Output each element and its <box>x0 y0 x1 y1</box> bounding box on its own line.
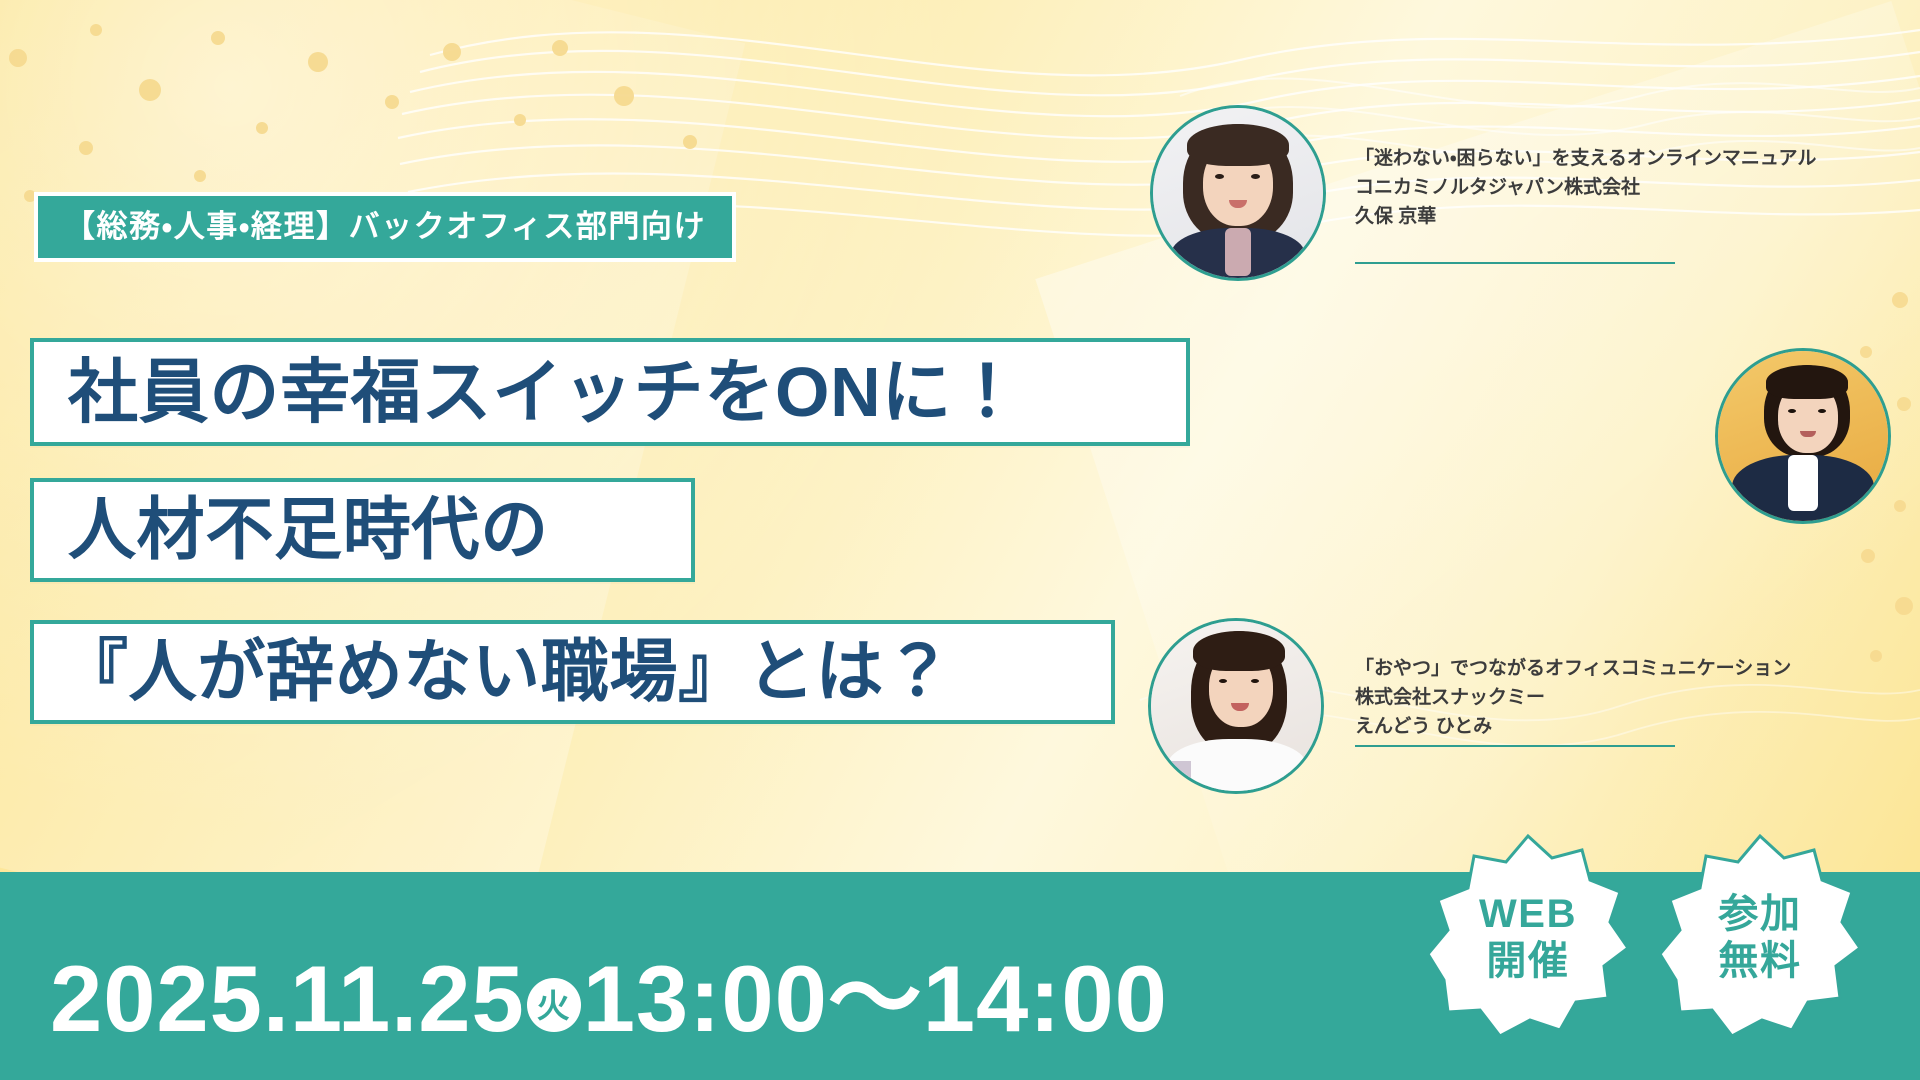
badge-free-line2: 無料 <box>1718 938 1801 985</box>
headline-text-1: 社員の幸福スイッチをONに！ <box>68 357 1023 427</box>
audience-kicker-banner: 【総務・人事・経理】バックオフィス部門向け <box>34 192 736 262</box>
speaker-text-3: 「おやつ」でつながるオフィスコミュニケーション 株式会社スナックミー えんどう … <box>1355 655 1791 742</box>
event-weekday-chip: 火 <box>527 978 581 1032</box>
badge-web-kaisai: WEB 開催 <box>1428 832 1628 1044</box>
speaker-topic-3: 「おやつ」でつながるオフィスコミュニケーション <box>1355 655 1791 684</box>
event-date: 2025.11.25 <box>50 952 525 1046</box>
speaker-photo-1 <box>1150 105 1326 281</box>
event-datetime: 2025.11.25 火 13:00〜14:00 <box>50 952 1168 1046</box>
speaker-text-1: 「迷わない・困らない」を支えるオンラインマニュアル コニカミノルタジャパン株式会… <box>1355 145 1816 232</box>
headline-box-1: 社員の幸福スイッチをONに！ <box>30 338 1190 446</box>
badge-free-line1: 参加 <box>1718 891 1801 938</box>
speaker-name-3: えんどう ひとみ <box>1355 713 1791 742</box>
speaker-photo-2 <box>1715 348 1891 524</box>
speaker-topic-1: 「迷わない・困らない」を支えるオンラインマニュアル <box>1355 145 1816 174</box>
badge-sanka-muryo: 参加 無料 <box>1660 832 1860 1044</box>
speaker-rule-3 <box>1355 745 1675 747</box>
headline-box-3: 『人が辞めない職場』とは？ <box>30 620 1115 724</box>
speaker-name-1: 久保 京華 <box>1355 203 1816 232</box>
speaker-photo-3 <box>1148 618 1324 794</box>
speaker-company-1: コニカミノルタジャパン株式会社 <box>1355 174 1816 203</box>
speaker-rule-1 <box>1355 262 1675 264</box>
webinar-banner: 【総務・人事・経理】バックオフィス部門向け 社員の幸福スイッチをONに！ 人材不… <box>0 0 1920 1080</box>
event-time: 13:00〜14:00 <box>583 952 1168 1046</box>
audience-kicker-text: 【総務・人事・経理】バックオフィス部門向け <box>64 211 706 242</box>
headline-text-3: 『人が辞めない職場』とは？ <box>60 638 953 706</box>
badge-web-line2: 開催 <box>1486 938 1569 985</box>
headline-text-2: 人材不足時代の <box>68 496 549 564</box>
headline-box-2: 人材不足時代の <box>30 478 695 582</box>
badge-web-line1: WEB <box>1479 891 1577 938</box>
speaker-company-3: 株式会社スナックミー <box>1355 684 1791 713</box>
